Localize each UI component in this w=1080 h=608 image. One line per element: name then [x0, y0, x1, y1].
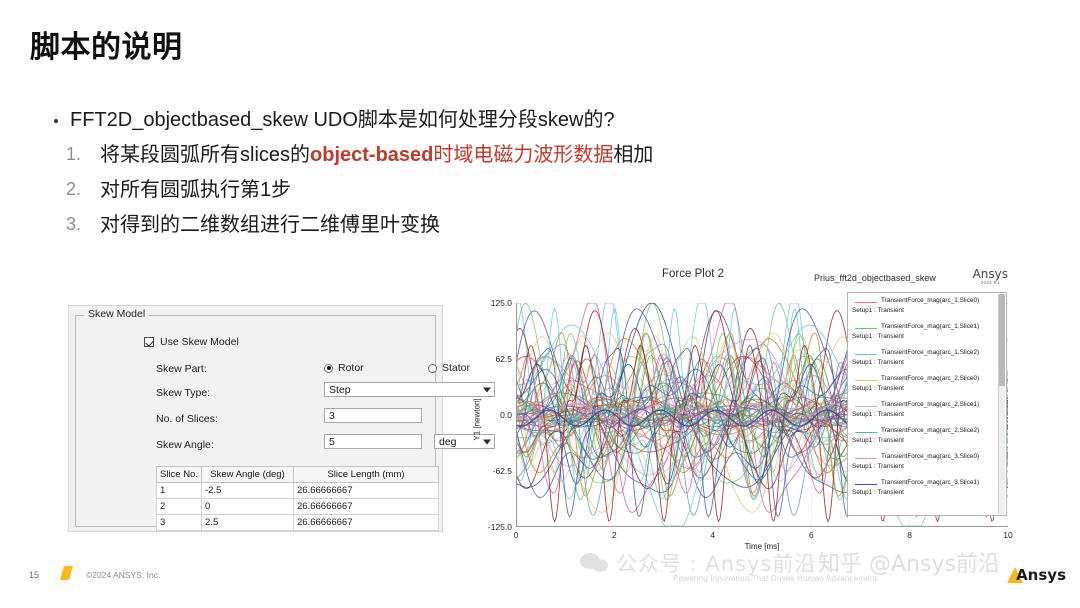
step-1-highlight: object-based	[310, 144, 433, 166]
cell-slice-length: 26.66666667	[294, 499, 439, 515]
legend-series-sub: Setup1 : Transient	[852, 385, 904, 392]
y-axis-ticks: 125.062.50.0-62.5-125.0	[468, 303, 512, 527]
chart-legend[interactable]: TransientForce_mag(arc_1,Slice0)Setup1 :…	[847, 292, 1007, 516]
skew-angle-unit-value: deg	[439, 436, 457, 448]
numbered-steps: 1. 将某段圆弧所有slices的object-based时域电磁力波形数据相加…	[52, 143, 952, 237]
x-tick-label: 10	[1003, 530, 1012, 540]
page-number: 15	[29, 570, 39, 580]
use-skew-model-checkbox[interactable]: Use Skew Model	[144, 336, 239, 348]
legend-series-name: TransientForce_mag(arc_1,Slice2)	[881, 349, 979, 356]
legend-series-name: TransientForce_mag(arc_2,Slice2)	[881, 427, 979, 434]
cell-slice-length: 26.66666667	[294, 483, 439, 499]
slide-canvas: 脚本的说明 FFT2D_objectbased_skew UDO脚本是如何处理分…	[0, 0, 1080, 608]
step-1-text-d: 相加	[613, 144, 653, 166]
watermark-wechat-text: 公众号 : Ansys前沿	[616, 548, 816, 578]
x-tick-label: 4	[710, 530, 715, 540]
radio-rotor-label: Rotor	[338, 362, 364, 374]
slices-table[interactable]: Slice No. Skew Angle (deg) Slice Length …	[156, 466, 439, 531]
watermark-wechat: 公众号 : Ansys前沿	[580, 548, 816, 578]
bullet-level1-text: FFT2D_objectbased_skew UDO脚本是如何处理分段skew的…	[70, 109, 615, 131]
skew-part-label: Skew Part:	[156, 363, 207, 375]
legend-item[interactable]: TransientForce_mag(arc_3,Slice1)Setup1 :…	[851, 479, 1004, 505]
force-plot-panel: Force Plot 2 Prius_fft2d_objectbased_ske…	[462, 264, 1014, 554]
x-tick-label: 2	[612, 530, 617, 540]
legend-series-sub: Setup1 : Transient	[852, 411, 904, 418]
skew-model-dialog: Skew Model Use Skew Model Skew Part: Rot…	[68, 305, 443, 532]
legend-item[interactable]: TransientForce_mag(arc_2,Slice0)Setup1 :…	[851, 375, 1004, 401]
step-1-text-c: 时域电磁力波形数据	[433, 144, 613, 166]
use-skew-model-label: Use Skew Model	[160, 336, 239, 348]
body-content: FFT2D_objectbased_skew UDO脚本是如何处理分段skew的…	[52, 108, 952, 248]
cell-slice-no: 1	[157, 483, 202, 499]
legend-series-sub: Setup1 : Transient	[852, 489, 904, 496]
y-tick-label: 62.5	[495, 354, 512, 364]
legend-item[interactable]: TransientForce_mag(arc_1,Slice0)Setup1 :…	[851, 297, 1004, 323]
ansys-badge: Ansys 2024 R1	[973, 268, 1008, 285]
legend-color-swatch	[855, 302, 877, 303]
watermark-zhihu: 知乎 @Ansys前沿	[818, 546, 1000, 578]
ansys-logo: Ansys	[1007, 566, 1066, 584]
skew-angle-label: Skew Angle:	[156, 439, 214, 451]
design-name-label: Prius_fft2d_objectbased_skew	[814, 273, 936, 283]
skew-angle-value: 5	[329, 436, 335, 448]
step-1-number: 1.	[66, 144, 81, 166]
y-tick-label: -62.5	[493, 466, 512, 476]
page-title: 脚本的说明	[30, 22, 183, 66]
cell-slice-no: 2	[157, 499, 202, 515]
step-3-text: 对得到的二维数组进行二维傅里叶变换	[100, 214, 440, 236]
chart-title: Force Plot 2	[662, 268, 724, 280]
radio-rotor[interactable]: Rotor	[324, 362, 364, 374]
ansys-logo-word: Ansys	[1016, 566, 1066, 584]
step-3-number: 3.	[66, 214, 81, 236]
cell-slice-no: 3	[157, 515, 202, 531]
ansys-badge-word: Ansys	[973, 268, 1008, 280]
legend-series-sub: Setup1 : Transient	[852, 437, 904, 444]
cell-slice-length: 26.66666667	[294, 515, 439, 531]
legend-color-swatch	[855, 458, 877, 459]
legend-series-sub: Setup1 : Transient	[852, 463, 904, 470]
checkbox-check-icon	[144, 337, 154, 347]
step-2-text: 对所有圆弧执行第1步	[100, 179, 291, 201]
ansys-slash-icon	[60, 566, 73, 580]
cell-skew-angle: 0	[202, 499, 294, 515]
col-skew-angle: Skew Angle (deg)	[202, 467, 294, 483]
copyright-text: ©2024 ANSYS, Inc.	[86, 570, 160, 580]
skew-type-label: Skew Type:	[156, 387, 210, 399]
no-of-slices-label: No. of Slices:	[156, 413, 218, 425]
x-tick-label: 0	[514, 530, 519, 540]
cell-skew-angle: -2.5	[202, 483, 294, 499]
step-1-text-a: 将某段圆弧所有slices的	[100, 144, 310, 166]
x-tick-label: 8	[907, 530, 912, 540]
step-1: 1. 将某段圆弧所有slices的object-based时域电磁力波形数据相加	[52, 143, 952, 167]
slices-table-header-row: Slice No. Skew Angle (deg) Slice Length …	[157, 467, 439, 483]
table-row[interactable]: 2 0 26.66666667	[157, 499, 439, 515]
legend-color-swatch	[855, 484, 877, 485]
col-slice-no: Slice No.	[157, 467, 202, 483]
step-2: 2. 对所有圆弧执行第1步	[52, 178, 952, 202]
skew-model-group-title: Skew Model	[84, 308, 149, 320]
skew-angle-input[interactable]: 5	[324, 434, 422, 449]
legend-series-name: TransientForce_mag(arc_2,Slice0)	[881, 375, 979, 382]
no-of-slices-input[interactable]: 3	[324, 408, 422, 423]
legend-color-swatch	[855, 380, 877, 381]
cell-skew-angle: 2.5	[202, 515, 294, 531]
legend-series-sub: Setup1 : Transient	[852, 333, 904, 340]
step-2-number: 2.	[66, 179, 81, 201]
legend-series-sub: Setup1 : Transient	[852, 359, 904, 366]
y-tick-label: 0.0	[500, 410, 512, 420]
x-tick-label: 6	[809, 530, 814, 540]
wechat-icon	[580, 551, 610, 575]
table-row[interactable]: 3 2.5 26.66666667	[157, 515, 439, 531]
legend-item[interactable]: TransientForce_mag(arc_3,Slice0)Setup1 :…	[851, 453, 1004, 479]
radio-stator-icon	[428, 364, 437, 373]
legend-series-name: TransientForce_mag(arc_3,Slice0)	[881, 453, 979, 460]
legend-item[interactable]: TransientForce_mag(arc_2,Slice1)Setup1 :…	[851, 401, 1004, 427]
legend-item[interactable]: TransientForce_mag(arc_1,Slice1)Setup1 :…	[851, 323, 1004, 349]
legend-color-swatch	[855, 354, 877, 355]
legend-series-name: TransientForce_mag(arc_1,Slice0)	[881, 297, 979, 304]
legend-series-name: TransientForce_mag(arc_2,Slice1)	[881, 401, 979, 408]
legend-item[interactable]: TransientForce_mag(arc_2,Slice2)Setup1 :…	[851, 427, 1004, 453]
skew-model-groupbox: Skew Model Use Skew Model Skew Part: Rot…	[75, 315, 436, 527]
legend-color-swatch	[855, 432, 877, 433]
skew-type-value: Step	[329, 384, 351, 396]
table-row[interactable]: 1 -2.5 26.66666667	[157, 483, 439, 499]
legend-series-name: TransientForce_mag(arc_3,Slice1)	[881, 479, 979, 486]
legend-item[interactable]: TransientForce_mag(arc_1,Slice2)Setup1 :…	[851, 349, 1004, 375]
bullet-level1: FFT2D_objectbased_skew UDO脚本是如何处理分段skew的…	[52, 108, 952, 133]
col-slice-length: Slice Length (mm)	[294, 467, 439, 483]
y-tick-label: -125.0	[488, 522, 512, 532]
no-of-slices-value: 3	[329, 410, 335, 422]
legend-color-swatch	[855, 406, 877, 407]
legend-series-sub: Setup1 : Transient	[852, 307, 904, 314]
legend-color-swatch	[855, 328, 877, 329]
y-tick-label: 125.0	[491, 298, 512, 308]
radio-rotor-icon	[324, 364, 333, 373]
step-3: 3. 对得到的二维数组进行二维傅里叶变换	[52, 213, 952, 237]
legend-series-name: TransientForce_mag(arc_1,Slice1)	[881, 323, 979, 330]
